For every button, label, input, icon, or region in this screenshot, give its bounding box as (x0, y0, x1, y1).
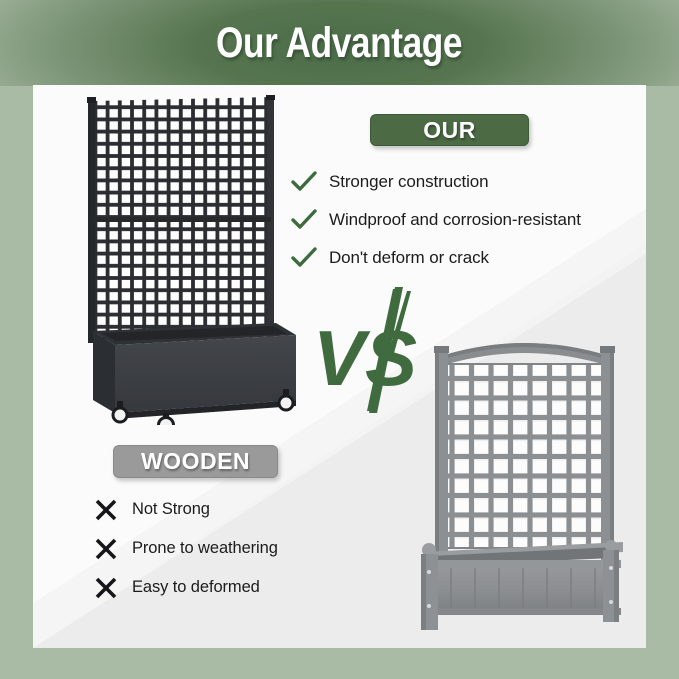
list-item-label: Prone to weathering (132, 539, 278, 558)
metal-planter-image (71, 95, 301, 425)
page-title: Our Advantage (216, 19, 462, 68)
cross-icon (94, 498, 132, 522)
list-item-label: Don't deform or crack (329, 248, 489, 268)
check-icon (291, 247, 329, 269)
list-item: Stronger construction (291, 163, 621, 201)
list-item: Easy to deformed (94, 568, 394, 607)
list-item-label: Easy to deformed (132, 578, 260, 597)
wooden-feature-list: Not Strong Prone to weathering Easy to d… (94, 490, 394, 607)
advantage-comparison-poster: Our Advantage (0, 0, 679, 679)
cross-icon (94, 537, 132, 561)
cross-icon (94, 576, 132, 600)
wooden-planter-image (413, 320, 643, 640)
our-badge-label: OUR (423, 117, 476, 144)
content-panel: OUR Stronger construction Windproof and (33, 85, 646, 648)
check-icon (291, 209, 329, 231)
list-item: Prone to weathering (94, 529, 394, 568)
header-banner: Our Advantage (0, 0, 679, 86)
list-item: Not Strong (94, 490, 394, 529)
metal-planter-svg (71, 95, 301, 425)
list-item-label: Stronger construction (329, 172, 488, 192)
wooden-badge-label: WOODEN (141, 448, 250, 475)
wooden-planter-svg (413, 320, 643, 640)
list-item: Don't deform or crack (291, 239, 621, 277)
vs-label: VS (313, 314, 417, 402)
list-item-label: Not Strong (132, 500, 210, 519)
our-feature-list: Stronger construction Windproof and corr… (291, 163, 621, 277)
check-icon (291, 171, 329, 193)
our-badge: OUR (370, 114, 529, 146)
list-item: Windproof and corrosion-resistant (291, 201, 621, 239)
list-item-label: Windproof and corrosion-resistant (329, 210, 581, 230)
wooden-badge: WOODEN (113, 445, 278, 478)
